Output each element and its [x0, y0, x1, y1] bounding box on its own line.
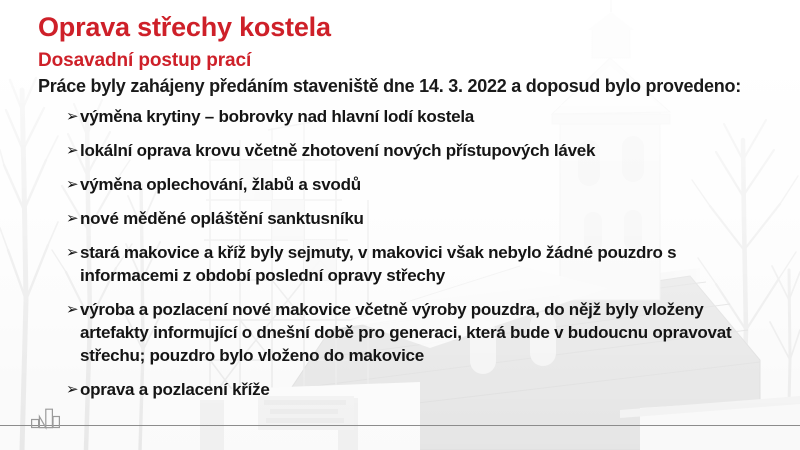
list-item-label: výroba a pozlacení nové makovice včetně … — [80, 298, 770, 367]
arrow-bullet-icon: ➢ — [66, 241, 78, 264]
list-item-label: lokální oprava krovu včetně zhotovení no… — [80, 139, 770, 162]
bar-chart-logo — [31, 406, 67, 430]
bullet-list: ➢ výměna krytiny – bobrovky nad hlavní l… — [66, 105, 770, 412]
arrow-bullet-icon: ➢ — [66, 207, 78, 230]
list-item: ➢ stará makovice a kříž byly sejmuty, v … — [66, 241, 770, 287]
arrow-bullet-icon: ➢ — [66, 378, 78, 401]
presentation-slide: Oprava střechy kostela Dosavadní postup … — [0, 0, 800, 450]
list-item: ➢ nové měděné opláštění sanktusníku — [66, 207, 770, 230]
list-item: ➢ výměna oplechování, žlabů a svodů — [66, 173, 770, 196]
list-item-label: výměna krytiny – bobrovky nad hlavní lod… — [80, 105, 770, 128]
page-subtitle: Dosavadní postup prací — [38, 50, 251, 72]
list-item: ➢ oprava a pozlacení kříže — [66, 378, 770, 401]
list-item: ➢ výměna krytiny – bobrovky nad hlavní l… — [66, 105, 770, 128]
list-item: ➢ lokální oprava krovu včetně zhotovení … — [66, 139, 770, 162]
list-item-label: nové měděné opláštění sanktusníku — [80, 207, 770, 230]
intro-paragraph: Práce byly zahájeny předáním staveniště … — [38, 76, 741, 97]
arrow-bullet-icon: ➢ — [66, 105, 78, 128]
arrow-bullet-icon: ➢ — [66, 139, 78, 162]
list-item-label: stará makovice a kříž byly sejmuty, v ma… — [80, 241, 770, 287]
arrow-bullet-icon: ➢ — [66, 173, 78, 196]
footer-divider — [0, 425, 800, 426]
list-item-label: výměna oplechování, žlabů a svodů — [80, 173, 770, 196]
page-title: Oprava střechy kostela — [38, 12, 331, 43]
list-item-label: oprava a pozlacení kříže — [80, 378, 770, 401]
list-item: ➢ výroba a pozlacení nové makovice včetn… — [66, 298, 770, 367]
slide-content: Oprava střechy kostela Dosavadní postup … — [0, 0, 800, 450]
arrow-bullet-icon: ➢ — [66, 298, 78, 321]
